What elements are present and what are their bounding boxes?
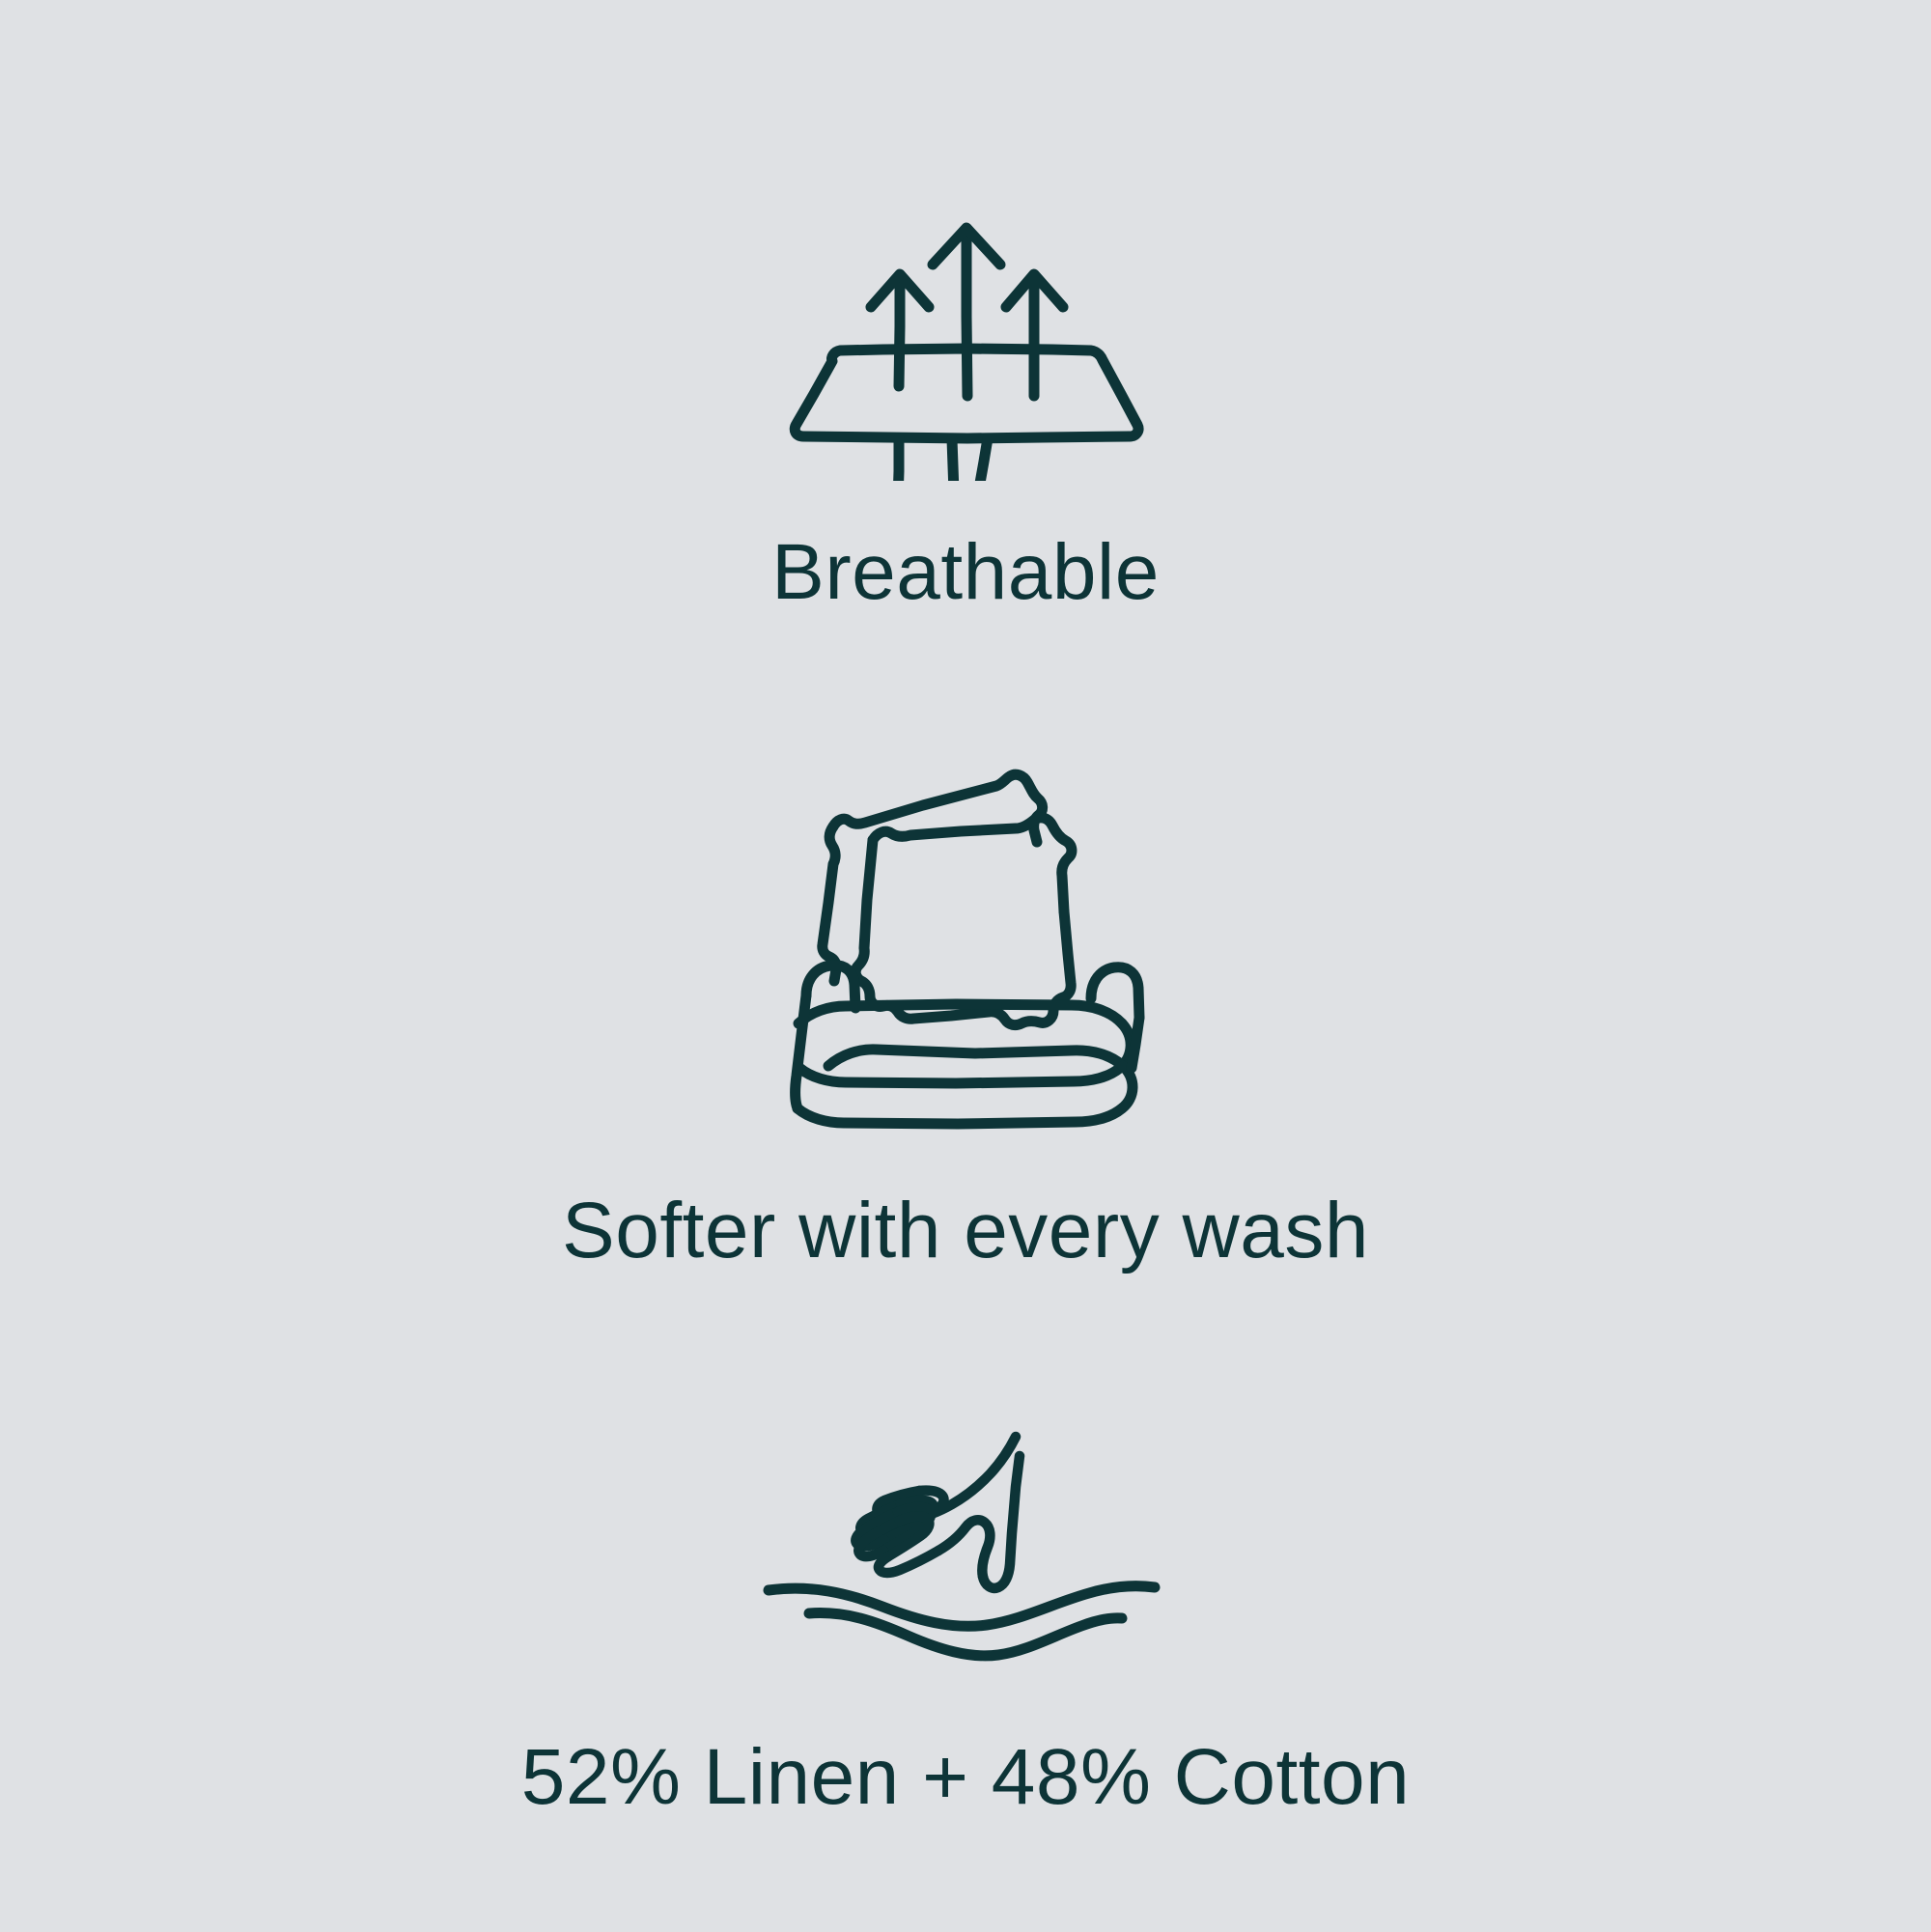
- breathable-airflow-icon: [763, 114, 1168, 481]
- feature-label-breathable: Breathable: [771, 533, 1160, 612]
- feature-breathable: Breathable: [0, 114, 1931, 612]
- feature-label-blend: 52% Linen + 48% Cotton: [521, 1738, 1411, 1817]
- feature-label-softer: Softer with every wash: [562, 1191, 1369, 1271]
- folded-bedding-pillows-icon: [753, 765, 1178, 1141]
- feature-softer: Softer with every wash: [0, 765, 1931, 1271]
- product-features-infographic: Breathable: [0, 0, 1931, 1932]
- hand-touching-fabric-icon: [753, 1427, 1178, 1678]
- feature-blend: 52% Linen + 48% Cotton: [0, 1427, 1931, 1817]
